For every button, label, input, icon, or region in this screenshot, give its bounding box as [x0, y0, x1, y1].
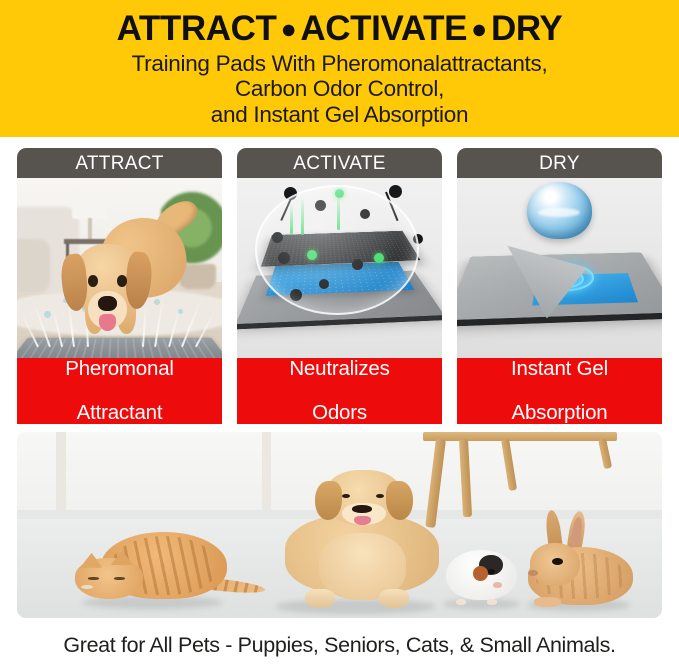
cat-eye-left: [88, 577, 99, 580]
feature-panel-dry: DRY Instant Gel Absorption: [457, 148, 662, 424]
panel-header-label: ATTRACT: [75, 154, 163, 173]
carbon-layer-diagram: [237, 178, 442, 358]
panel-caption-line-2: Odors: [289, 402, 389, 424]
dog: [275, 473, 443, 611]
panel-caption-line-2: Absorption: [511, 402, 608, 424]
cat-nose: [81, 585, 92, 589]
table-top: [423, 432, 617, 441]
panel-caption-text: Instant Gel Absorption: [511, 358, 608, 424]
hero-title: ATTRACT●ACTIVATE●DRY: [117, 9, 563, 48]
feature-panels: ATTRACT: [17, 148, 662, 424]
hero-title-bullet-1: ●: [277, 14, 301, 44]
water-droplet: [527, 182, 593, 239]
hero-title-dry: DRY: [491, 9, 562, 48]
dog-eye-right: [376, 494, 384, 499]
panel-caption-line-1: Pheromonal: [65, 358, 174, 380]
panel-art-activate: [237, 178, 442, 358]
guinea-pig: [446, 545, 517, 605]
hero-subtitle: Training Pads With Pheromonalattractants…: [132, 51, 548, 127]
rabbit-foot: [534, 597, 560, 607]
hero-banner: ATTRACT●ACTIVATE●DRY Training Pads With …: [0, 0, 679, 137]
hero-title-bullet-2: ●: [467, 14, 491, 44]
feature-panel-activate: ACTIVATE: [237, 148, 442, 424]
dog-paw-left: [305, 589, 335, 608]
feature-panel-attract: ATTRACT: [17, 148, 222, 424]
panel-caption-attract: Pheromonal Attractant: [17, 358, 222, 424]
guinea-pig-eye: [488, 569, 495, 574]
panel-caption-activate: Neutralizes Odors: [237, 358, 442, 424]
panel-art-dry: [457, 178, 662, 358]
dog-paw-right: [379, 589, 409, 608]
panel-caption-text: Pheromonal Attractant: [65, 358, 174, 424]
hero-title-attract: ATTRACT: [117, 9, 277, 48]
footer-caption-text: Great for All Pets - Puppies, Seniors, C…: [63, 633, 615, 658]
hero-subtitle-line-2: Carbon Odor Control,: [132, 76, 548, 101]
panel-header-activate: ACTIVATE: [237, 148, 442, 178]
footer-caption: Great for All Pets - Puppies, Seniors, C…: [0, 622, 679, 668]
product-infographic: ATTRACT●ACTIVATE●DRY Training Pads With …: [0, 0, 679, 668]
absorption-diagram: [457, 178, 662, 358]
puppy-eye-right: [117, 275, 127, 287]
panel-caption-text: Neutralizes Odors: [289, 358, 389, 424]
puppy: [66, 210, 181, 339]
puppy-eye-left: [88, 275, 98, 287]
door-frame-left: [56, 432, 66, 514]
pets-photo: [17, 432, 662, 618]
dog-nose: [352, 505, 372, 513]
dog-tongue: [354, 516, 371, 526]
panel-caption-dry: Instant Gel Absorption: [457, 358, 662, 424]
panel-caption-line-1: Instant Gel: [511, 358, 608, 380]
hero-title-activate: ACTIVATE: [300, 9, 467, 48]
puppy-tongue: [99, 314, 115, 331]
guinea-pig-foot-left: [456, 599, 466, 605]
rabbit-nose: [528, 570, 538, 576]
dog-ear-left: [315, 481, 342, 520]
puppy-nose: [98, 296, 116, 312]
magnifier-lens: [255, 185, 419, 314]
guinea-pig-nose: [493, 582, 502, 587]
dog-ear-right: [386, 481, 413, 520]
guinea-pig-foot-right: [487, 599, 497, 605]
panel-caption-line-2: Attractant: [65, 402, 174, 424]
cat: [75, 529, 236, 607]
door-frame-right: [262, 432, 271, 514]
hero-subtitle-line-3: and Instant Gel Absorption: [132, 102, 548, 127]
panel-header-dry: DRY: [457, 148, 662, 178]
panel-caption-line-1: Neutralizes: [289, 358, 389, 380]
panel-header-attract: ATTRACT: [17, 148, 222, 178]
panel-art-attract: [17, 178, 222, 358]
panel-header-label: ACTIVATE: [293, 154, 385, 173]
hero-subtitle-line-1: Training Pads With Pheromonalattractants…: [132, 51, 548, 76]
cat-eye-right: [114, 577, 125, 580]
rabbit: [523, 510, 633, 607]
panel-header-label: DRY: [539, 154, 580, 173]
living-room-scene: [17, 178, 222, 358]
